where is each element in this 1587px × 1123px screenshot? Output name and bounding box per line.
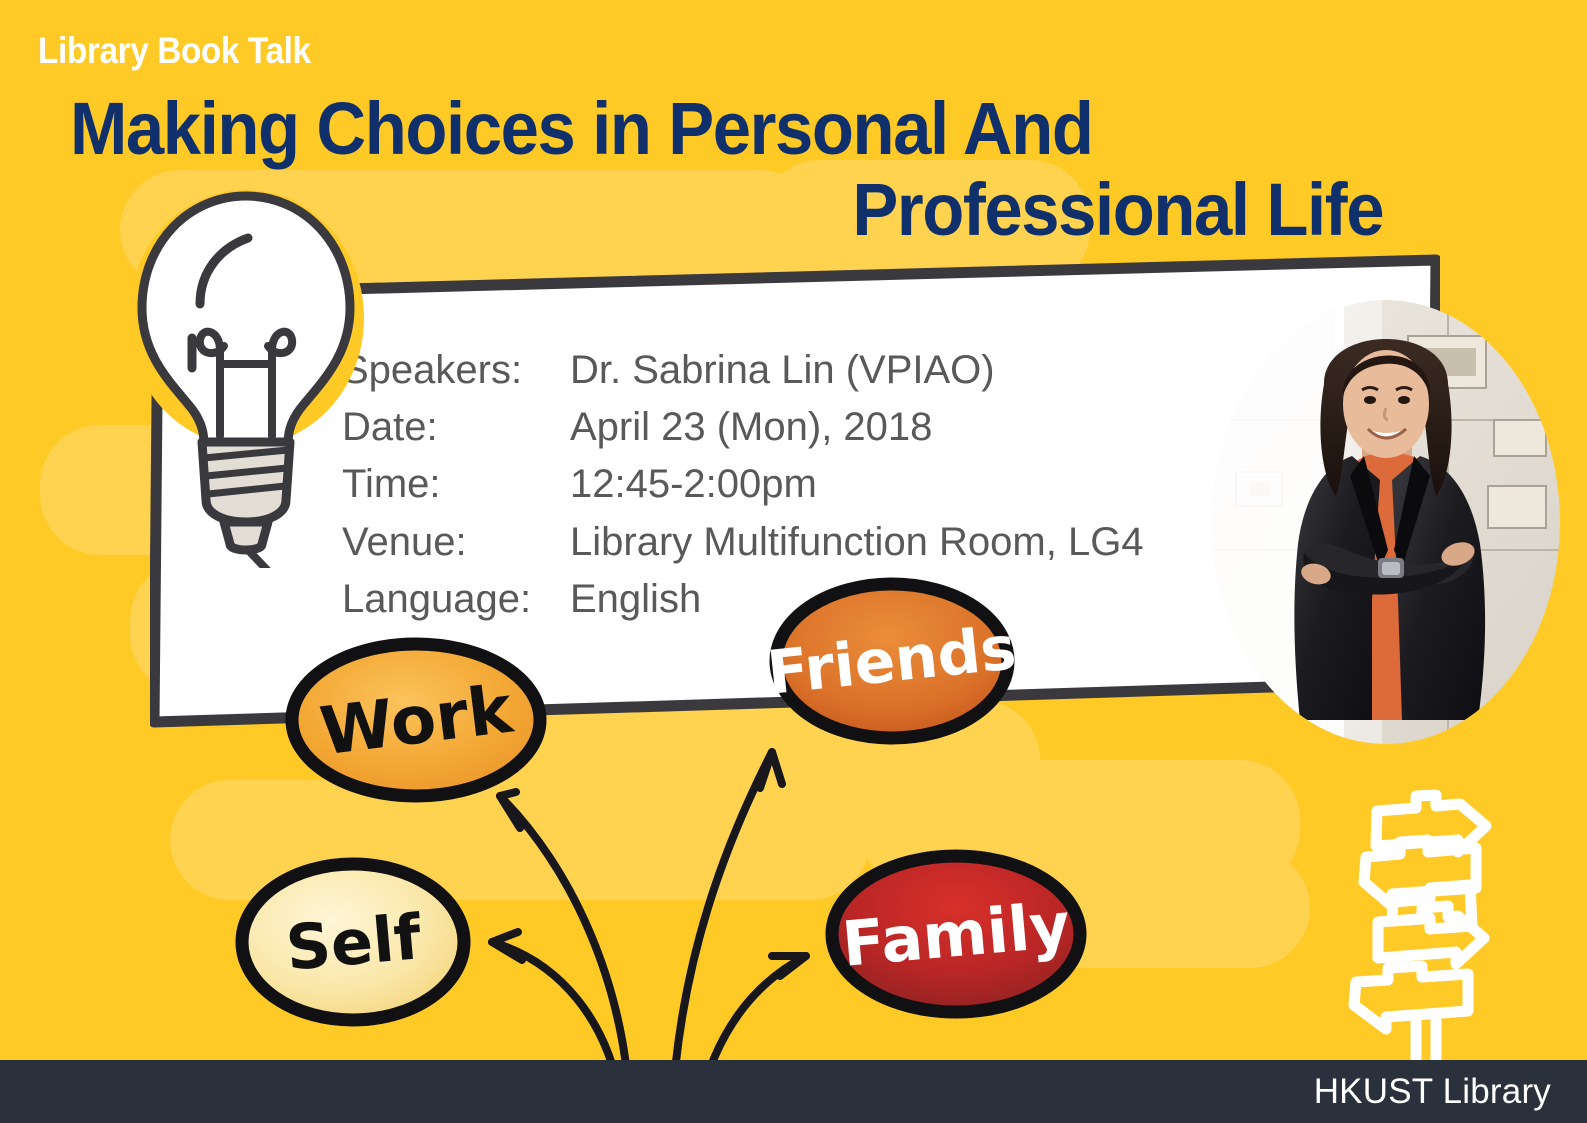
poster-canvas: Library Book Talk Making Choices in Pers… [0,0,1587,1123]
bubble-shape-self [232,856,474,1028]
lightbulb-icon [96,168,396,568]
mindmap-bubble-self[interactable]: Self [232,856,474,1028]
detail-value: Library Multifunction Room, LG4 [570,514,1144,571]
detail-row: Speakers: Dr. Sabrina Lin (VPIAO) [342,342,1144,399]
detail-value: Dr. Sabrina Lin (VPIAO) [570,342,995,399]
detail-value: 12:45-2:00pm [570,456,817,513]
speaker-portrait-graphic [1212,300,1560,745]
footer-bar: HKUST Library [0,1060,1587,1123]
page-kicker: Library Book Talk [38,30,311,72]
signpost-arrows-icon [1330,778,1560,1063]
speaker-portrait [1212,300,1560,745]
title-line-1: Making Choices in Personal And [70,88,1400,169]
detail-value: English [570,571,701,628]
bubble-shape-work [282,636,550,804]
mindmap-bubble-family[interactable]: Family [822,848,1090,1020]
mindmap-bubble-work[interactable]: Work [282,636,550,804]
detail-row: Time: 12:45-2:00pm [342,456,1144,513]
detail-row: Date: April 23 (Mon), 2018 [342,399,1144,456]
detail-label: Language: [342,571,570,628]
detail-row: Venue: Library Multifunction Room, LG4 [342,514,1144,571]
footer-organization: HKUST Library [1314,1072,1587,1112]
bubble-shape-friends [766,576,1018,746]
detail-row: Language: English [342,571,1144,628]
bubble-shape-family [822,848,1090,1020]
mindmap-bubble-friends[interactable]: Friends [766,576,1018,746]
event-details-list: Speakers: Dr. Sabrina Lin (VPIAO) Date: … [342,342,1144,628]
detail-value: April 23 (Mon), 2018 [570,399,932,456]
